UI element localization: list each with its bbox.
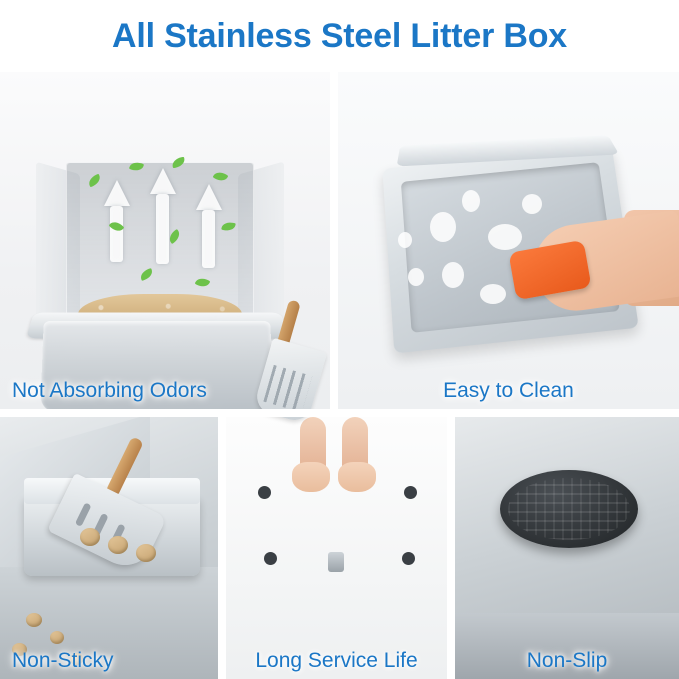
panel-long-service-life: Long Service Life (226, 417, 447, 679)
airflow-arrow-stem (156, 194, 169, 264)
panel-caption: Long Service Life (226, 649, 447, 673)
water-splash (408, 268, 424, 286)
panel-divider (218, 417, 226, 679)
scoop-slot (75, 502, 92, 527)
rubber-foot (402, 552, 415, 565)
rubber-foot (404, 486, 417, 499)
panel-easy-to-clean: Easy to Clean (338, 72, 679, 409)
product-infographic: All Stainless Steel Litter Box Not Absor… (0, 0, 679, 679)
litter-pellet (26, 613, 42, 627)
panel-background (226, 417, 447, 679)
panel-caption: Non-Slip (455, 649, 679, 673)
airflow-arrow-icon (196, 184, 222, 210)
page-title: All Stainless Steel Litter Box (0, 0, 679, 72)
panel-divider (330, 72, 338, 409)
litter-pellet (136, 544, 156, 562)
latch (328, 552, 344, 572)
litter-pellet (80, 528, 100, 546)
airflow-arrow-icon (104, 180, 130, 206)
water-splash (522, 194, 542, 214)
panel-divider (0, 409, 679, 417)
water-splash (442, 262, 464, 288)
airflow-arrow-stem (110, 206, 123, 262)
water-splash (462, 190, 480, 212)
page-title-text: All Stainless Steel Litter Box (112, 17, 567, 56)
panel-caption: Easy to Clean (338, 379, 679, 403)
water-splash (488, 224, 522, 250)
panel-caption: Non-Sticky (0, 649, 218, 673)
water-splash (430, 212, 456, 242)
human-foot (338, 462, 376, 492)
panel-non-slip: Non-Slip (455, 417, 679, 679)
airflow-arrow-icon (150, 168, 176, 194)
litter-pellet (108, 536, 128, 554)
rubber-anti-slip-pad (500, 470, 638, 548)
water-splash (398, 232, 412, 248)
human-foot (292, 462, 330, 492)
rubber-foot (258, 486, 271, 499)
airflow-arrow-stem (202, 210, 215, 268)
rubber-foot (264, 552, 277, 565)
water-splash (480, 284, 506, 304)
panel-caption: Not Absorbing Odors (0, 379, 330, 403)
litter-pellet (50, 631, 64, 644)
panel-divider (447, 417, 455, 679)
